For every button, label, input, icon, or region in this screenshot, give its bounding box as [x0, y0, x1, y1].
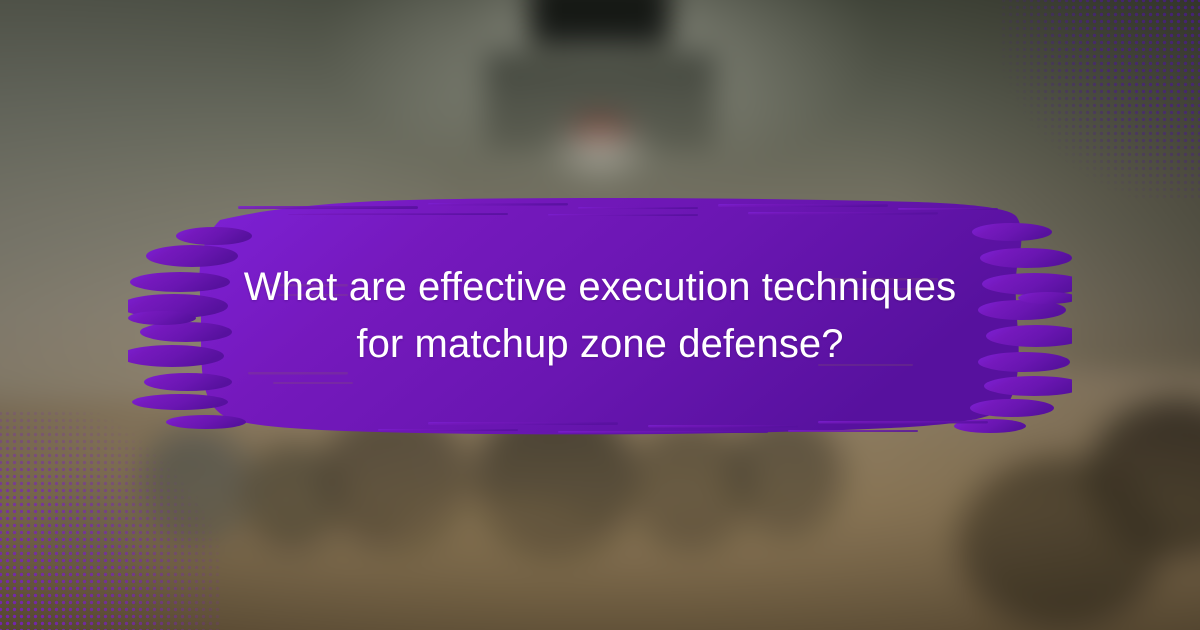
question-banner: What are effective execution techniques …	[128, 186, 1072, 446]
question-card: What are effective execution techniques …	[0, 0, 1200, 630]
question-text: What are effective execution techniques …	[224, 186, 976, 446]
